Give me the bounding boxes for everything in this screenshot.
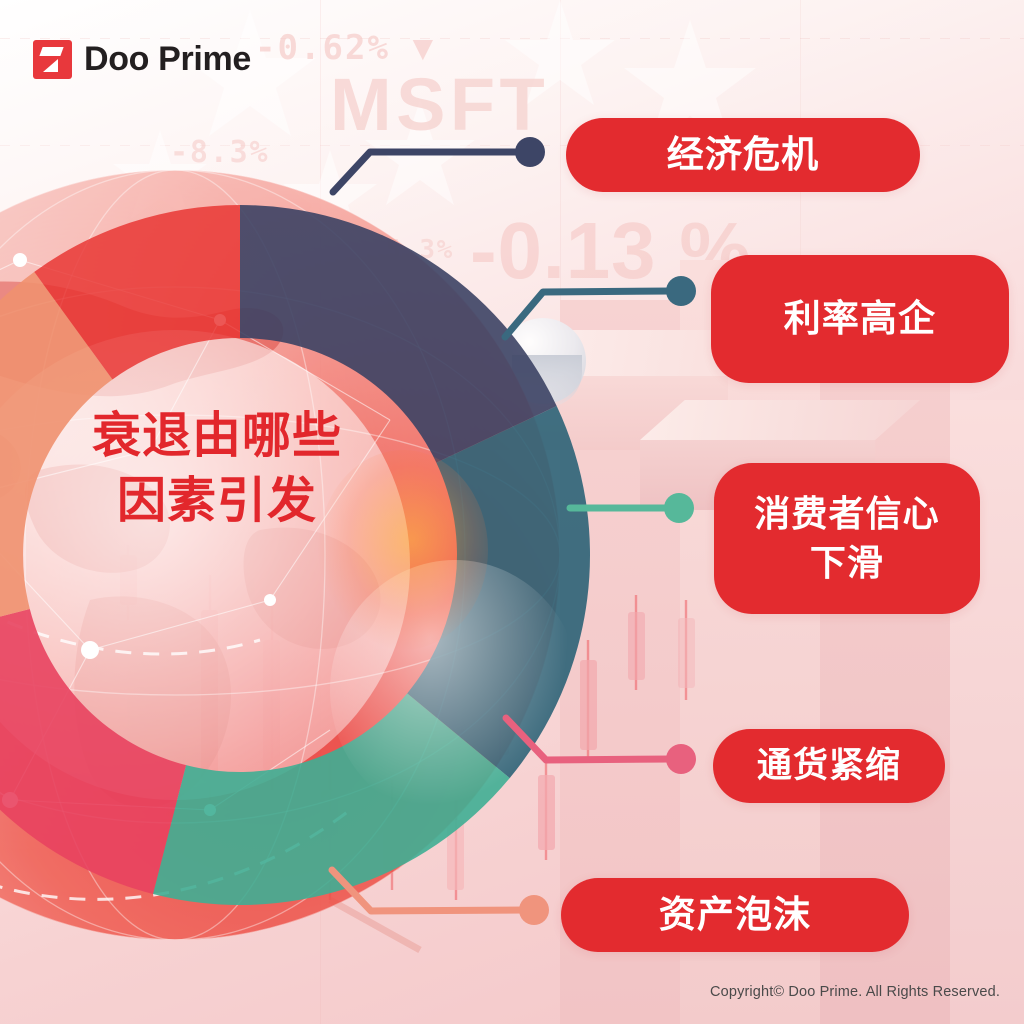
page-title: 衰退由哪些 因素引发: [52, 404, 382, 533]
label-economic-crisis[interactable]: 经济危机: [566, 118, 920, 192]
label-deflation[interactable]: 通货紧缩: [713, 729, 945, 803]
label-line: 消费者信心: [754, 490, 939, 539]
label-line: 利率高企: [784, 294, 936, 344]
connector-consumer-confidence-dot: [664, 493, 694, 523]
label-text: 消费者信心下滑: [754, 490, 939, 587]
page-title-line-2: 因素引发: [52, 469, 382, 534]
connector-economic-crisis: [333, 152, 522, 192]
brand-logo[interactable]: Doo Prime: [33, 40, 251, 79]
label-line: 经济危机: [667, 130, 819, 180]
page-title-line-1: 衰退由哪些: [52, 404, 382, 469]
label-line: 资产泡沫: [659, 890, 811, 940]
label-line: 通货紧缩: [757, 742, 901, 789]
infographic-canvas: -0.62% ▼ MSFT -8.3% 5.3% -0.13 %: [0, 0, 1024, 1024]
brand-logo-text: Doo Prime: [84, 40, 251, 79]
label-asset-bubble[interactable]: 资产泡沫: [561, 878, 909, 952]
connector-asset-bubble-dot: [519, 895, 549, 925]
connector-economic-crisis-dot: [515, 137, 545, 167]
label-consumer-confidence[interactable]: 消费者信心下滑: [714, 463, 980, 614]
label-text: 通货紧缩: [757, 742, 901, 789]
label-text: 经济危机: [667, 130, 819, 180]
copyright-notice: Copyright© Doo Prime. All Rights Reserve…: [710, 984, 1000, 1000]
label-text: 利率高企: [784, 294, 936, 344]
label-text: 资产泡沫: [659, 890, 811, 940]
connector-deflation-dot: [666, 744, 696, 774]
label-line: 下滑: [754, 539, 939, 588]
connector-high-interest-rates-dot: [666, 276, 696, 306]
doo-prime-mark-icon: [33, 40, 72, 79]
connector-deflation: [506, 718, 672, 760]
label-high-interest-rates[interactable]: 利率高企: [711, 255, 1009, 383]
connector-asset-bubble: [332, 870, 525, 911]
connector-high-interest-rates: [505, 291, 672, 337]
